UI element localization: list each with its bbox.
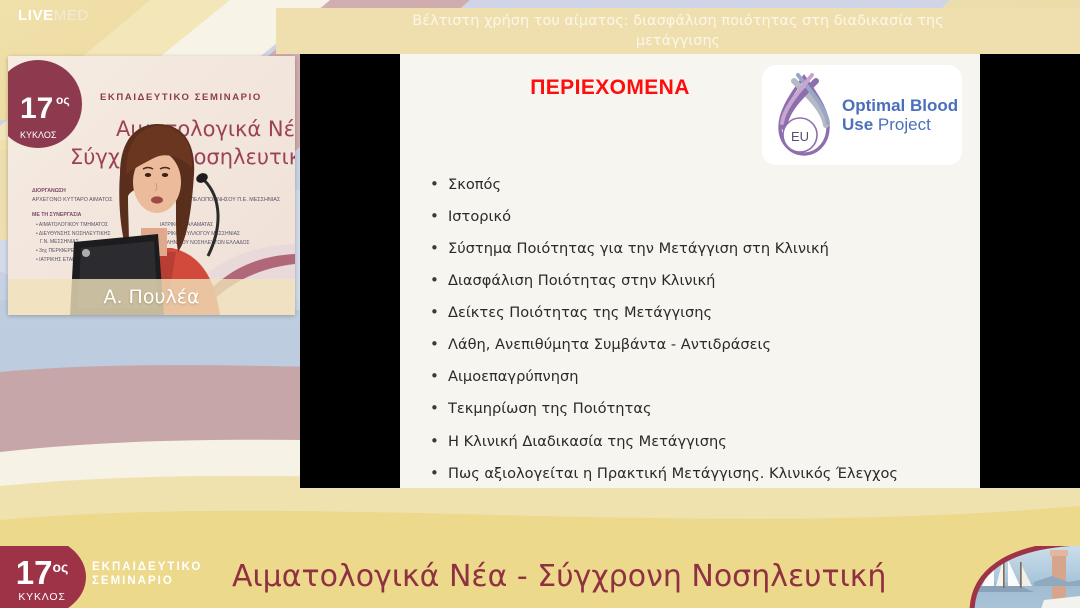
obu-logo-use: Use [842, 115, 873, 134]
ship-emblem-icon [948, 546, 1080, 608]
svg-text:ΜΕ ΤΗ ΣΥΝΕΡΓΑΣΙΑ: ΜΕ ΤΗ ΣΥΝΕΡΓΑΣΙΑ [32, 212, 82, 218]
list-item: Τεκμηρίωση της Ποιότητας [430, 400, 964, 419]
seminar-label: ΕΚΠΑΙΔΕΥΤΙΚΟ ΣΕΜΙΝΑΡΙΟ [92, 560, 202, 588]
list-item: Σκοπός [430, 176, 964, 195]
svg-text:17: 17 [20, 92, 53, 125]
speaker-video-still: 17 ος ΚΥΚΛΟΣ ΕΚΠΑΙΔΕΥΤΙΚΟ ΣΕΜΙΝΑΡΙΟ Αιμα… [8, 56, 295, 315]
list-item: Λάθη, Ανεπιθύμητα Συμβάντα - Αντιδράσεις [430, 336, 964, 355]
list-item: Πως αξιολογείται η Πρακτική Μετάγγισης. … [430, 465, 964, 484]
svg-text:ΕΚΠΑΙΔΕΥΤΙΚΟ ΣΕΜΙΝΑΡΙΟ: ΕΚΠΑΙΔΕΥΤΙΚΟ ΣΕΜΙΝΑΡΙΟ [100, 92, 262, 103]
list-item: Η Κλινική Διαδικασία της Μετάγγισης [430, 433, 964, 452]
livemed-logo-med: MED [54, 7, 89, 24]
livemed-logo: LIVEMED [18, 8, 89, 23]
livemed-logo-live: LIVE [18, 7, 54, 24]
svg-text:ΙΑΤΡΙΚΟΥ ΣΥΛΛΟΓΟΥ ΜΕΣΣΗΝΙΑΣ: ΙΑΤΡΙΚΟΥ ΣΥΛΛΟΓΟΥ ΜΕΣΣΗΝΙΑΣ [160, 231, 240, 237]
list-item: Αιμοεπαγρύπνηση [430, 368, 964, 387]
blood-drop-ribbon-icon: EU [768, 69, 840, 161]
obu-logo-line1: Optimal Blood [842, 96, 958, 115]
presentation-slide[interactable]: ΠΕΡΙΕΧΟΜΕΝΑ EU Optimal Blood Use Project… [400, 54, 980, 488]
svg-text:ΕΛΛΗΝΙΚΟΥ ΝΟΣΗΛΕΥΤΩΝ ΕΛΛΑΔΟΣ: ΕΛΛΗΝΙΚΟΥ ΝΟΣΗΛΕΥΤΩΝ ΕΛΛΑΔΟΣ [160, 240, 250, 246]
cycle-number: 17 [16, 554, 53, 591]
svg-text:ΔΙΟΡΓΑΝΩΣΗ: ΔΙΟΡΓΑΝΩΣΗ [32, 188, 66, 194]
session-title-banner: Βέλτιστη χρήση του αίματος: διασφάλιση π… [276, 8, 1080, 54]
svg-text:ΑΡΧΕΓΟΝΟ ΚΥΤΤΑΡΟ ΑΙΜΑΤΟΣ: ΑΡΧΕΓΟΝΟ ΚΥΤΤΑΡΟ ΑΙΜΑΤΟΣ [32, 197, 113, 203]
cycle-suffix: ος [52, 559, 68, 575]
list-item: Σύστημα Ποιότητας για την Μετάγγιση στη … [430, 240, 964, 259]
speaker-video-frame: 17 ος ΚΥΚΛΟΣ ΕΚΠΑΙΔΕΥΤΙΚΟ ΣΕΜΙΝΑΡΙΟ Αιμα… [8, 56, 295, 315]
slide-stage[interactable]: ΠΕΡΙΕΧΟΜΕΝΑ EU Optimal Blood Use Project… [300, 54, 1080, 488]
speaker-video-panel[interactable]: 17 ος ΚΥΚΛΟΣ ΕΚΠΑΙΔΕΥΤΙΚΟ ΣΕΜΙΝΑΡΙΟ Αιμα… [8, 56, 295, 315]
session-title: Βέλτιστη χρήση του αίματος: διασφάλιση π… [398, 11, 958, 51]
speaker-name-label: Α. Πουλέα [8, 279, 295, 315]
obu-logo-project: Project [873, 115, 931, 134]
seminar-label-line2: ΣΕΜΙΝΑΡΙΟ [92, 574, 202, 588]
seminar-label-line1: ΕΚΠΑΙΔΕΥΤΙΚΟ [92, 560, 202, 574]
footer-brand-bar: 17ος ΚΥΚΛΟΣ ΕΚΠΑΙΔΕΥΤΙΚΟ ΣΕΜΙΝΑΡΙΟ Αιματ… [0, 546, 1080, 608]
svg-text:• ΔΙΕΥΘΥΝΣΗΣ ΝΟΣΗΛΕΥΤΙΚΗΣ: • ΔΙΕΥΘΥΝΣΗΣ ΝΟΣΗΛΕΥΤΙΚΗΣ [36, 231, 111, 237]
eu-label: EU [791, 129, 809, 144]
cycle-badge: 17ος ΚΥΚΛΟΣ [0, 546, 86, 608]
list-item: Διασφάλιση Ποιότητας στην Κλινική [430, 272, 964, 291]
cycle-word: ΚΥΚΛΟΣ [0, 591, 86, 603]
event-title: Αιματολογικά Νέα - Σύγχρονη Νοσηλευτική [232, 558, 886, 596]
svg-text:• ΑΙΜΑΤΟΛΟΓΙΚΟΥ ΤΜΗΜΑΤΟΣ: • ΑΙΜΑΤΟΛΟΓΙΚΟΥ ΤΜΗΜΑΤΟΣ [36, 222, 108, 228]
list-item: Δείκτες Ποιότητας της Μετάγγισης [430, 304, 964, 323]
optimal-blood-use-logo: EU Optimal Blood Use Project [762, 65, 962, 165]
svg-text:Γ.Ν. ΜΕΣΣΗΝΙΑΣ: Γ.Ν. ΜΕΣΣΗΝΙΑΣ [40, 239, 79, 245]
svg-text:ΚΥΚΛΟΣ: ΚΥΚΛΟΣ [20, 130, 57, 140]
list-item: Ιστορικό [430, 208, 964, 227]
slide-bullet-list: Σκοπός Ιστορικό Σύστημα Ποιότητας για τη… [430, 176, 964, 488]
svg-text:ος: ος [56, 93, 70, 107]
